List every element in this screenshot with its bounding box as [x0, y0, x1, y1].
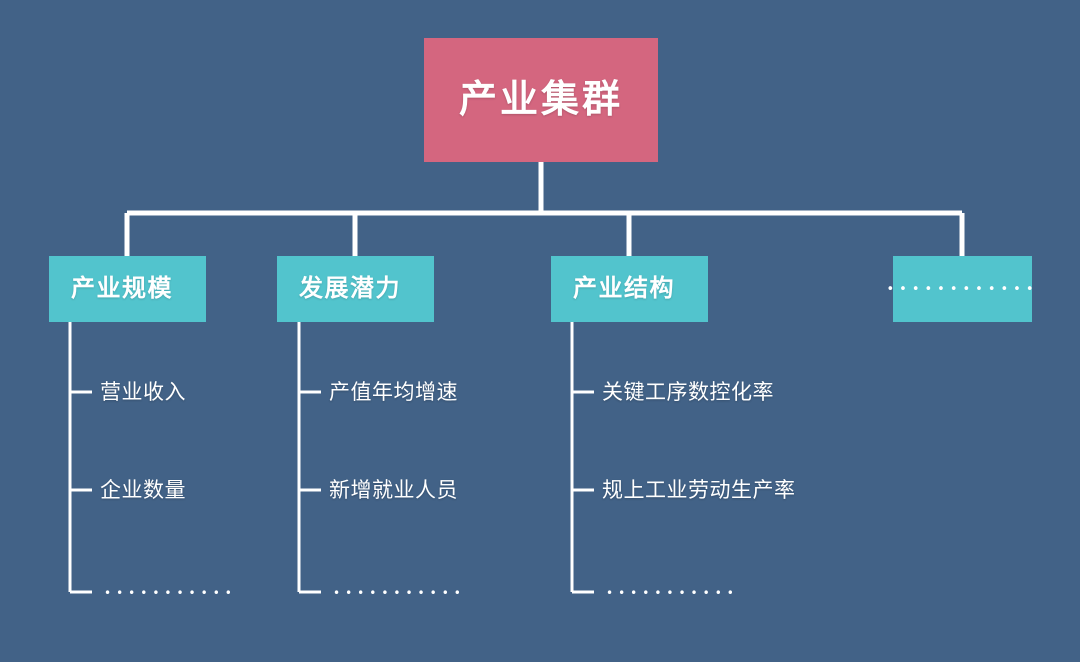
branch-node-3-label: 产业结构 — [573, 277, 675, 301]
root-node[interactable]: 产业集群 — [424, 38, 658, 162]
leaf-item-1-3-ellipsis: ••••••••••• — [104, 587, 237, 599]
branch-node-4-ellipsis: •••••••••••• — [887, 283, 1039, 296]
leaf-item-3-3-placeholder[interactable]: ••••••••••• — [606, 578, 739, 608]
branch-node-3[interactable]: 产业结构 — [551, 256, 708, 322]
org-chart-diagram: 产业集群 产业规模 发展潜力 产业结构 •••••••••••• 营业收入 企业… — [0, 0, 1080, 662]
leaf-item-1-2[interactable]: 企业数量 — [100, 475, 186, 505]
branch-node-4-placeholder[interactable]: •••••••••••• — [893, 256, 1032, 322]
leaf-item-2-1[interactable]: 产值年均增速 — [329, 377, 458, 407]
leaf-item-2-2[interactable]: 新增就业人员 — [329, 475, 458, 505]
leaf-item-1-1[interactable]: 营业收入 — [100, 377, 186, 407]
leaf-item-3-2[interactable]: 规上工业劳动生产率 — [602, 475, 796, 505]
leaf-item-1-1-label: 营业收入 — [100, 382, 186, 403]
leaf-item-3-3-ellipsis: ••••••••••• — [606, 587, 739, 599]
leaf-item-2-1-label: 产值年均增速 — [329, 382, 458, 403]
leaf-item-1-3-placeholder[interactable]: ••••••••••• — [104, 578, 237, 608]
branch-node-1-label: 产业规模 — [71, 277, 173, 301]
root-node-label: 产业集群 — [459, 81, 623, 119]
leaf-item-1-2-label: 企业数量 — [100, 480, 186, 501]
leaf-item-3-1-label: 关键工序数控化率 — [602, 382, 774, 403]
branch-node-2[interactable]: 发展潜力 — [277, 256, 434, 322]
leaf-item-3-2-label: 规上工业劳动生产率 — [602, 480, 796, 501]
leaf-item-2-3-placeholder[interactable]: ••••••••••• — [333, 578, 466, 608]
leaf-item-2-2-label: 新增就业人员 — [329, 480, 458, 501]
branch-node-1[interactable]: 产业规模 — [49, 256, 206, 322]
leaf-item-2-3-ellipsis: ••••••••••• — [333, 587, 466, 599]
leaf-item-3-1[interactable]: 关键工序数控化率 — [602, 377, 774, 407]
branch-node-2-label: 发展潜力 — [299, 277, 401, 301]
